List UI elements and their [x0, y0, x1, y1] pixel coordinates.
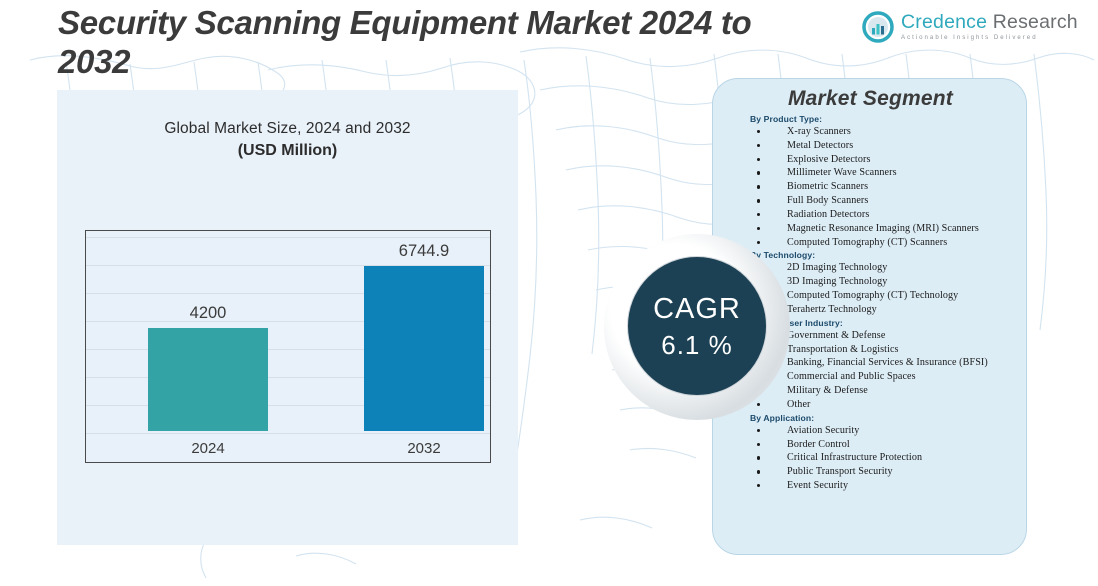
bar-value-label: 4200: [190, 304, 227, 323]
bar-category-label: 2024: [148, 440, 268, 457]
chart-heading: Global Market Size, 2024 and 2032 (USD M…: [57, 120, 518, 160]
segment-list-item: Metal Detectors: [725, 139, 1016, 153]
bar-group: 4200: [148, 237, 268, 431]
brand-logo: Credence Research Actionable Insights De…: [862, 11, 1078, 43]
bar-chart-circle-icon: [862, 11, 894, 43]
bar-rect[interactable]: [148, 328, 268, 431]
chart-plot-area: 42006744.9: [86, 237, 490, 431]
segment-list-item: Aviation Security: [725, 424, 1016, 438]
segment-list-item: X-ray Scanners: [725, 125, 1016, 139]
chart-gridline: [86, 433, 490, 434]
segment-list-item: Explosive Detectors: [725, 153, 1016, 167]
logo-tagline: Actionable Insights Delivered: [901, 35, 1078, 41]
cagr-value: 6.1 %: [661, 332, 733, 358]
chart-heading-line2: (USD Million): [57, 142, 518, 160]
logo-text-block: Credence Research Actionable Insights De…: [901, 13, 1078, 41]
segment-list-item: Other: [725, 398, 1016, 412]
chart-heading-line1: Global Market Size, 2024 and 2032: [57, 120, 518, 138]
cagr-label: CAGR: [653, 295, 741, 324]
segment-group-heading: By Technology:: [750, 250, 1016, 260]
segment-list-item: Biometric Scanners: [725, 180, 1016, 194]
segment-list-item: Full Body Scanners: [725, 194, 1016, 208]
bar-category-label: 2032: [364, 440, 484, 457]
infographic-canvas: Security Scanning Equipment Market 2024 …: [0, 0, 1098, 586]
page-title: Security Scanning Equipment Market 2024 …: [58, 4, 758, 82]
segment-group: By Product Type:X-ray ScannersMetal Dete…: [725, 114, 1016, 249]
logo-name-credence: Credence: [901, 11, 987, 33]
segment-list-item: Radiation Detectors: [725, 208, 1016, 222]
segment-list-item: Border Control: [725, 438, 1016, 452]
segment-group-heading: By Application:: [750, 413, 1016, 423]
segment-list-item: Computed Tomography (CT) Scanners: [725, 236, 1016, 250]
segment-list-item: Event Security: [725, 479, 1016, 493]
segment-panel-title: Market Segment: [725, 87, 1016, 111]
bar-value-label: 6744.9: [399, 242, 449, 261]
segment-item-list: Aviation SecurityBorder ControlCritical …: [725, 424, 1016, 493]
segment-group-heading: By Product Type:: [750, 114, 1016, 124]
bar-chart: 42006744.9 20242032: [85, 230, 491, 463]
logo-name-research: Research: [987, 11, 1078, 33]
segment-list-item: Public Transport Security: [725, 465, 1016, 479]
segment-item-list: X-ray ScannersMetal DetectorsExplosive D…: [725, 125, 1016, 249]
bar-group: 6744.9: [364, 237, 484, 431]
cagr-badge: CAGR 6.1 %: [627, 256, 767, 396]
segment-list-item: Magnetic Resonance Imaging (MRI) Scanner…: [725, 222, 1016, 236]
segment-list-item: Critical Infrastructure Protection: [725, 451, 1016, 465]
logo-company-name: Credence Research: [901, 13, 1078, 33]
segment-list-item: Millimeter Wave Scanners: [725, 166, 1016, 180]
segment-group: By Application:Aviation SecurityBorder C…: [725, 413, 1016, 493]
bar-rect[interactable]: [364, 266, 484, 431]
